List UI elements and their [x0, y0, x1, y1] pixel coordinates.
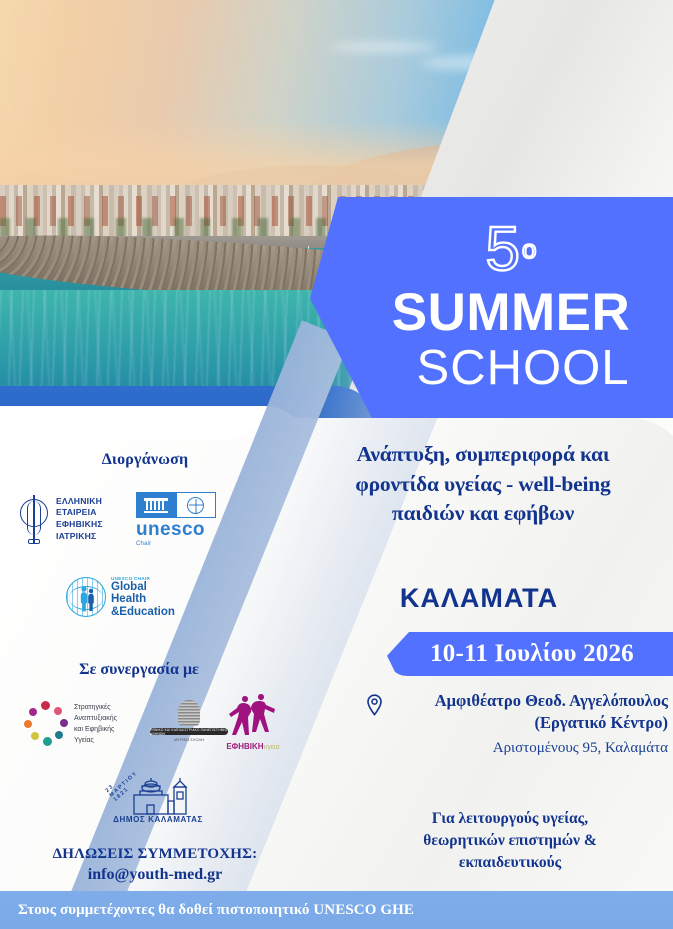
globe-people-icon [66, 577, 106, 617]
logo-efiviki-ygeia: ΕΦΗΒΙΚΗυγεία [215, 694, 291, 750]
footer-text: Στους συμμετέχοντες θα δοθεί πιστοποιητι… [18, 902, 414, 919]
audience-block: Για λειτουργούς υγείας, θεωρητικών επιστ… [352, 808, 668, 874]
efiviki-light-word: υγεία [264, 744, 280, 751]
strategic-line-3: και Εφηβικής [74, 724, 117, 735]
strategic-text: Στρατηγικές Αναπτυξιακής και Εφηβικής Υγ… [74, 702, 117, 747]
subtitle-line-3: παιδιών και εφήβων [300, 499, 666, 529]
collaboration-heading: Σε συνεργασία με [24, 661, 254, 679]
subtitle-line-1: Ανάπτυξη, συμπεριφορά και [300, 440, 666, 470]
venue-line-1: Αμφιθέατρο Θεοδ. Αγγελόπουλος [352, 690, 668, 712]
subtitle-line-2: φροντίδα υγείας - well-being [300, 470, 666, 500]
unesco-chair-label: Chair [136, 541, 220, 547]
logo-global-health-education: UNESCO CHAIR Global Health &Education [66, 575, 182, 619]
title-school: SCHOOL [417, 343, 630, 394]
hsam-line-4: ΙΑΤΡΙΚΗΣ [56, 531, 103, 543]
unesco-wordmark: unesco [136, 520, 220, 539]
ghe-text: UNESCO CHAIR Global Health &Education [111, 576, 182, 619]
hsam-line-1: ΕΛΛΗΝΙΚΗ [56, 496, 103, 508]
edition-ordinal: ο [522, 237, 536, 262]
logo-strategic-development: Στρατηγικές Αναπτυξιακής και Εφηβικής Υγ… [22, 697, 142, 751]
strategic-line-2: Αναπτυξιακής [74, 713, 117, 724]
church-icon [130, 777, 200, 815]
cloud-3 [330, 42, 440, 52]
poster-subtitle: Ανάπτυξη, συμπεριφορά και φροντίδα υγεία… [300, 440, 666, 529]
colored-dots-circle-icon [22, 701, 68, 747]
audience-line-1: Για λειτουργούς υγείας, [352, 808, 668, 830]
strategic-line-4: Υγείας [74, 735, 117, 746]
ghe-line-2: &Education [111, 606, 182, 619]
two-figures-icon [215, 694, 291, 736]
kalamata-caption: ΔΗΜΟΣ ΚΑΛΑΜΑΤΑΣ [110, 815, 206, 824]
hero-banner: 5 ο SUMMER SCHOOL [310, 197, 673, 418]
efiviki-wordmark: ΕΦΗΒΙΚΗυγεία [215, 742, 291, 751]
hsam-line-3: ΕΦΗΒΙΚΗΣ [56, 519, 103, 531]
date-banner: 10-11 Ιουλίου 2026 [387, 632, 673, 676]
city-name: ΚΑΛΑΜΑΤΑ [300, 583, 658, 614]
logo-municipality-kalamata: 23 ΜΑΡΤΙΟΥ 1821 ΔΗΜΟΣ ΚΑΛΑΜΑΤΑΣ [110, 765, 206, 827]
edition-number: 5 [486, 221, 520, 280]
logo-unesco-chair: unesco Chair [136, 492, 220, 546]
athena-bust-icon [178, 700, 200, 726]
unesco-temple-icon [136, 492, 216, 518]
event-date: 10-11 Ιουλίου 2026 [430, 640, 634, 668]
organizers-heading: Διοργάνωση [30, 451, 260, 469]
logo-hellenic-society-adolescent-medicine: ΕΛΛΗΝΙΚΗ ΕΤΑΙΡΕΙΑ ΕΦΗΒΙΚΗΣ ΙΑΤΡΙΚΗΣ [18, 487, 130, 551]
hsam-text: ΕΛΛΗΝΙΚΗ ΕΤΑΙΡΕΙΑ ΕΦΗΒΙΚΗΣ ΙΑΤΡΙΚΗΣ [56, 496, 103, 542]
audience-line-2: θεωρητικών επιστημών & [352, 830, 668, 852]
caduceus-icon [18, 491, 50, 547]
venue-block: Αμφιθέατρο Θεοδ. Αγγελόπουλος (Εργατικό … [352, 690, 668, 759]
efiviki-main-word: ΕΦΗΒΙΚΗ [226, 742, 263, 751]
footer-bar: Στους συμμετέχοντες θα δοθεί πιστοποιητι… [0, 891, 673, 929]
venue-address: Αριστομένους 95, Καλαμάτα [352, 738, 668, 759]
registration-email[interactable]: info@youth-med.gr [20, 864, 290, 886]
registration-block: ΔΗΛΩΣΕΙΣ ΣΥΜΜΕΤΟΧΗΣ: info@youth-med.gr [20, 844, 290, 886]
title-summer: SUMMER [392, 286, 631, 339]
venue-line-2: (Εργατικό Κέντρο) [352, 712, 668, 734]
poster-root: 5 ο SUMMER SCHOOL Ανάπτυξη, συμπεριφορά … [0, 0, 673, 929]
strategic-line-1: Στρατηγικές [74, 702, 117, 713]
edition-number-wrap: 5 ο [486, 221, 537, 280]
hsam-line-2: ΕΤΑΙΡΕΙΑ [56, 507, 103, 519]
registration-label: ΔΗΛΩΣΕΙΣ ΣΥΜΜΕΤΟΧΗΣ: [20, 844, 290, 864]
ghe-line-1: Global Health [111, 581, 182, 606]
audience-line-3: εκπαιδευτικούς [352, 852, 668, 874]
